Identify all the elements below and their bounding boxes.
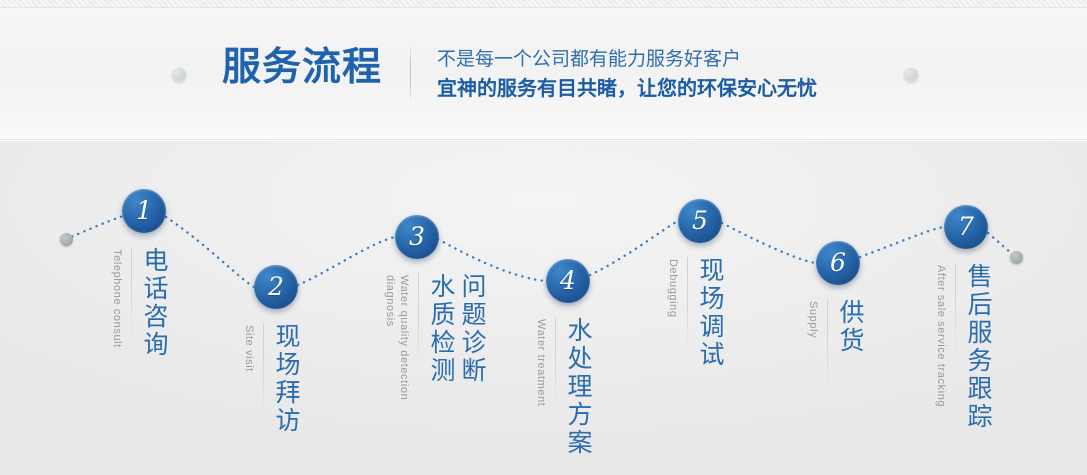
- step-label-3-cn-group: 问题诊断 水质检测: [426, 273, 488, 385]
- step-label-4: Water treatment 水处理方案: [534, 317, 594, 457]
- step-label-7-en: After sale service tracking: [934, 263, 948, 407]
- step-label-7-en-group: After sale service tracking: [934, 263, 948, 407]
- step-label-2-cn-group: 现场拜访: [271, 323, 302, 435]
- title-divider: [410, 42, 411, 102]
- service-process-banner: 服务流程 不是每一个公司都有能力服务好客户 宜神的服务有目共睹，让您的环保安心无…: [0, 0, 1087, 475]
- step-label-5-cn-group: 现场调试: [695, 257, 726, 369]
- step-label-2-en: Site visit: [242, 323, 256, 372]
- step-label-2: Site visit 现场拜访: [242, 323, 302, 435]
- step-label-5: Debugging 现场调试: [666, 257, 726, 369]
- step-label-6-cn: 供货: [835, 299, 866, 355]
- step-node-2[interactable]: 2: [254, 265, 298, 309]
- step-label-7-separator: [955, 263, 956, 359]
- step-node-3[interactable]: 3: [395, 215, 439, 259]
- step-node-1[interactable]: 1: [122, 189, 166, 233]
- step-label-3-en-line-1: Water quality detection: [397, 273, 411, 400]
- step-label-7: After sale service tracking 售后服务跟踪: [934, 263, 994, 431]
- step-label-7-cn-group: 售后服务跟踪: [963, 263, 994, 431]
- step-label-2-en-group: Site visit: [242, 323, 256, 372]
- step-number-1: 1: [136, 198, 152, 223]
- path-start-dot-icon: [60, 233, 73, 246]
- step-number-3: 3: [409, 224, 425, 249]
- step-label-3-separator: [418, 273, 419, 369]
- step-label-1: Telephone consult 电话咨询: [110, 247, 170, 359]
- step-label-2-cn: 现场拜访: [271, 323, 302, 435]
- step-label-4-en-group: Water treatment: [534, 317, 548, 406]
- subtitle-group: 不是每一个公司都有能力服务好客户 宜神的服务有目共睹，让您的环保安心无忧: [437, 44, 817, 102]
- step-label-5-en: Debugging: [666, 257, 680, 318]
- step-label-6-separator: [827, 299, 828, 395]
- step-label-6-en: Supply: [806, 299, 820, 338]
- step-number-6: 6: [830, 250, 846, 275]
- step-label-3-en-line-2: diagnosis: [383, 273, 397, 400]
- step-label-1-cn: 电话咨询: [139, 247, 170, 359]
- step-label-3: Water quality detection diagnosis 问题诊断 水…: [383, 273, 488, 400]
- step-label-5-cn: 现场调试: [695, 257, 726, 369]
- step-label-4-separator: [555, 317, 556, 413]
- step-label-4-cn-group: 水处理方案: [563, 317, 594, 457]
- top-edge-strip: [0, 0, 1087, 8]
- step-label-6: Supply 供货: [806, 299, 866, 395]
- step-node-7[interactable]: 7: [944, 205, 988, 249]
- header-content: 服务流程 不是每一个公司都有能力服务好客户 宜神的服务有目共睹，让您的环保安心无…: [222, 44, 817, 102]
- step-label-3-en-group: Water quality detection diagnosis: [383, 273, 411, 400]
- step-label-4-en: Water treatment: [534, 317, 548, 406]
- step-label-2-separator: [263, 323, 264, 419]
- step-number-5: 5: [692, 208, 708, 233]
- step-label-1-en-group: Telephone consult: [110, 247, 124, 348]
- step-label-5-en-group: Debugging: [666, 257, 680, 318]
- page-title: 服务流程: [222, 44, 382, 92]
- step-label-6-en-group: Supply: [806, 299, 820, 338]
- screw-dot-left-icon: [172, 68, 186, 82]
- step-number-4: 4: [560, 268, 576, 293]
- process-flow: 1 2 3 4 5 6 7 Telephone consult 电话咨询: [0, 139, 1087, 475]
- step-node-6[interactable]: 6: [816, 241, 860, 285]
- step-label-7-cn: 售后服务跟踪: [963, 263, 994, 431]
- step-label-4-cn: 水处理方案: [563, 317, 594, 457]
- subtitle-line-2: 宜神的服务有目共睹，让您的环保安心无忧: [437, 74, 817, 102]
- subtitle-line-1: 不是每一个公司都有能力服务好客户: [437, 46, 817, 72]
- step-label-3-cn-line-2: 水质检测: [426, 273, 457, 385]
- path-end-dot-icon: [1010, 251, 1023, 264]
- step-number-2: 2: [268, 274, 284, 299]
- step-node-4[interactable]: 4: [546, 259, 590, 303]
- step-label-3-cn-line-1: 问题诊断: [457, 273, 488, 385]
- step-label-1-separator: [131, 247, 132, 343]
- step-label-6-cn-group: 供货: [835, 299, 866, 355]
- step-node-5[interactable]: 5: [678, 199, 722, 243]
- step-label-1-en: Telephone consult: [110, 247, 124, 348]
- screw-dot-right-icon: [904, 68, 918, 82]
- step-number-7: 7: [958, 214, 974, 239]
- step-label-1-cn-group: 电话咨询: [139, 247, 170, 359]
- step-label-5-separator: [687, 257, 688, 353]
